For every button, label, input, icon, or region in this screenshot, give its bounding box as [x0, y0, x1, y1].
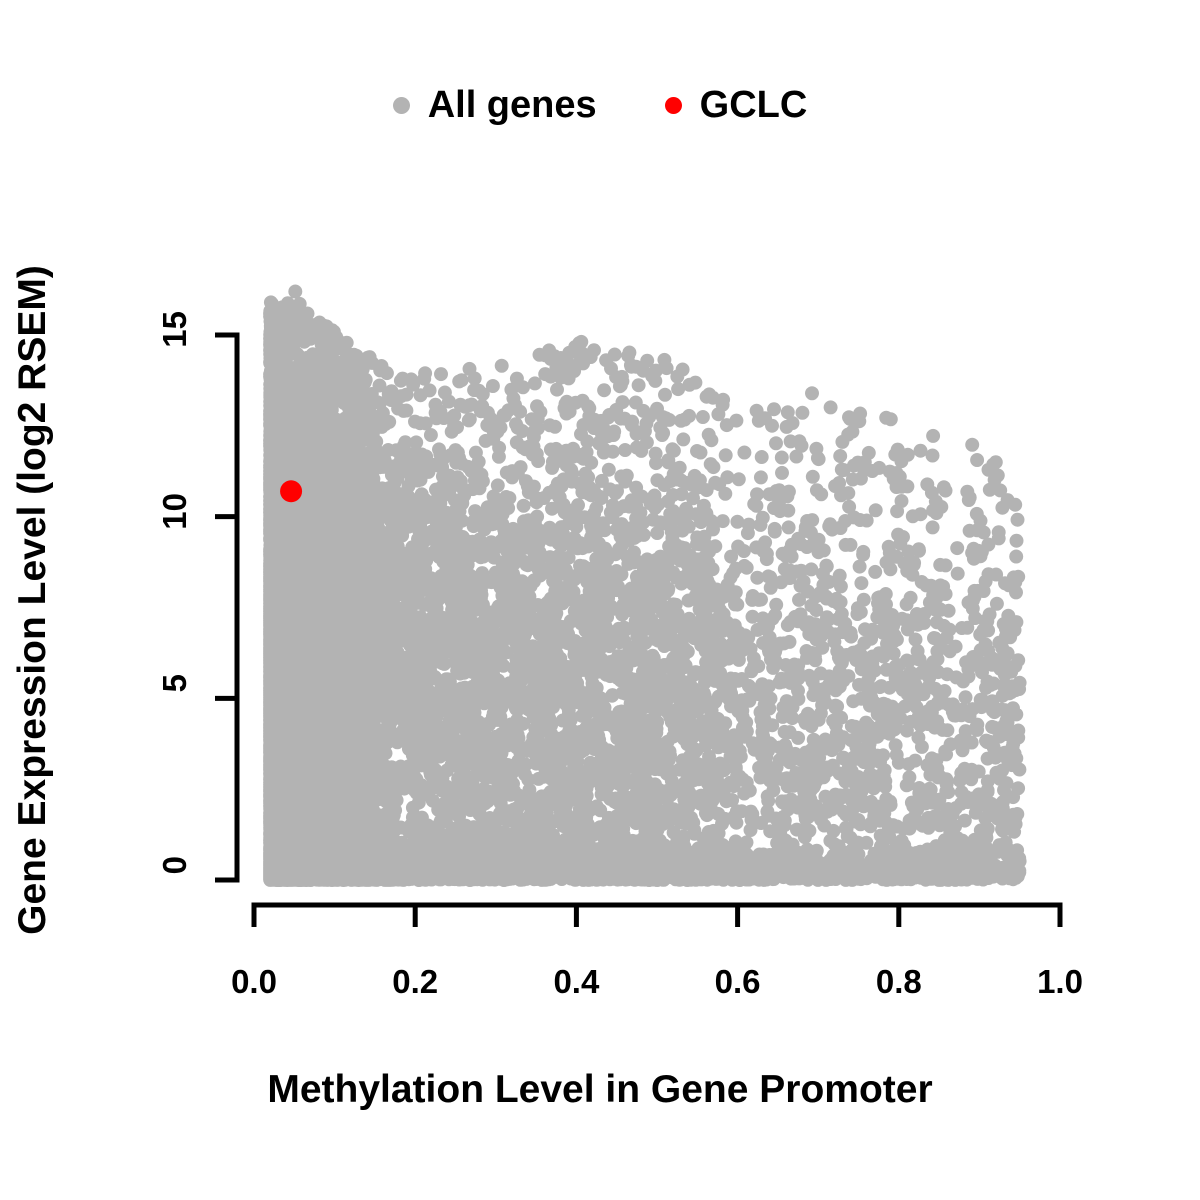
gclc-highlight-point	[280, 480, 302, 502]
y-tick-label: 0	[156, 856, 194, 1056]
y-tick-label: 15	[156, 311, 194, 511]
highlight-point-layer	[280, 480, 302, 502]
all-genes-points	[263, 285, 1026, 888]
y-tick-label: 10	[156, 493, 194, 693]
x-axis-title: Methylation Level in Gene Promoter	[0, 1068, 1200, 1112]
y-tick-label: 5	[156, 674, 194, 874]
x-tick-label: 0.4	[553, 963, 599, 1001]
x-tick-label: 0.2	[392, 963, 438, 1001]
y-axis-line	[215, 335, 237, 880]
y-axis-title-container: Gene Expression Level (log2 RSEM)	[0, 0, 66, 1200]
scatter-plot-figure: All genes GCLC Gene Expression Level (lo…	[0, 0, 1200, 1200]
x-axis-line	[254, 905, 1060, 927]
x-tick-label: 0.6	[715, 963, 761, 1001]
x-tick-label: 0.0	[231, 963, 277, 1001]
y-axis-title: Gene Expression Level (log2 RSEM)	[11, 265, 55, 935]
x-tick-label: 1.0	[1037, 963, 1083, 1001]
x-tick-label: 0.8	[876, 963, 922, 1001]
data-points-layer	[263, 285, 1026, 888]
